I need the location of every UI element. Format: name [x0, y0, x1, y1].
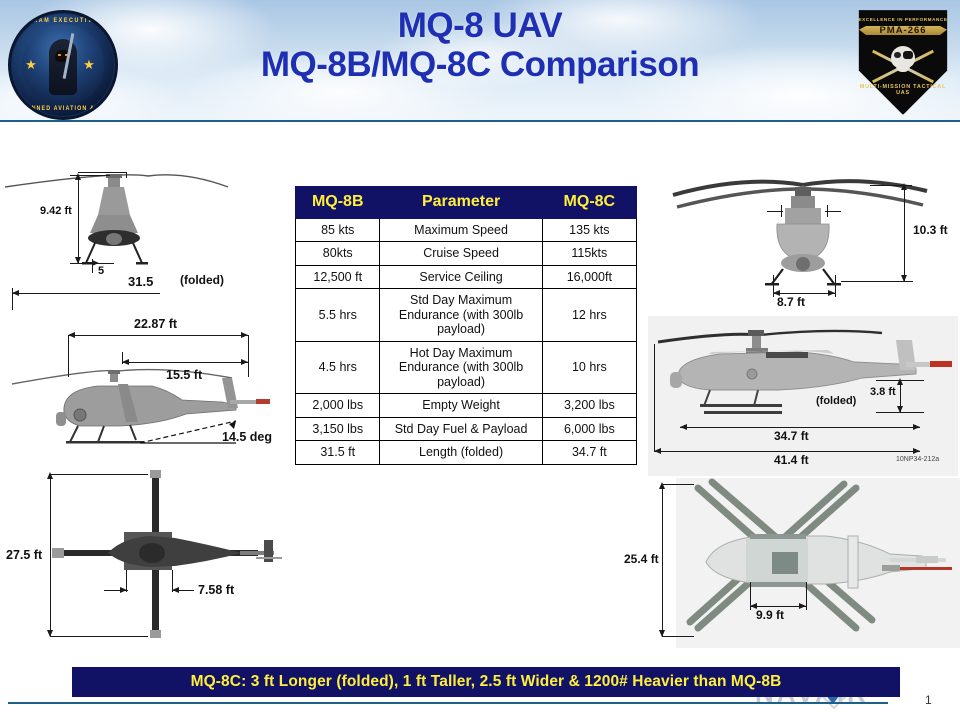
mq8b-width-arrow-left: [172, 587, 179, 593]
mq8c-top-view-illustration: [676, 478, 960, 648]
table-row: 5.5 hrs Std Day Maximum Endurance (with …: [296, 289, 637, 342]
cell-parameter: Service Ceiling: [380, 265, 542, 289]
mq8b-folded-tick-left: [12, 288, 13, 310]
mq8c-height-tick-bottom: [841, 281, 913, 282]
mq8b-folded-note-label: (folded): [180, 273, 224, 287]
mq8b-folded-dim-line: [12, 293, 160, 294]
cell-parameter: Maximum Speed: [380, 218, 542, 242]
cell-mq8b: 80kts: [296, 242, 380, 266]
cell-mq8c: 115kts: [542, 242, 636, 266]
mq8b-folded-arrow-left: [12, 290, 19, 296]
page-title: MQ-8 UAV MQ-8B/MQ-8C Comparison: [130, 6, 830, 84]
cell-parameter: Cruise Speed: [380, 242, 542, 266]
cell-parameter: Length (folded): [380, 441, 542, 465]
mq8c-tail-tick-bottom: [876, 412, 924, 413]
mq8c-folded-note-label: (folded): [816, 395, 856, 407]
shield-designator-label: PMA-266: [855, 26, 951, 35]
mq8b-height-tick-top: [70, 175, 110, 176]
mq8b-folded-length-label: 31.5: [128, 274, 153, 289]
mq8c-height-tick-top: [870, 185, 912, 186]
table-header-mq8b: MQ-8B: [296, 187, 380, 219]
table-row: 4.5 hrs Hot Day Maximum Endurance (with …: [296, 341, 637, 394]
mq8c-overall-length-label: 41.4 ft: [774, 453, 809, 467]
table-header-mq8c: MQ-8C: [542, 187, 636, 219]
header-divider-rule: [0, 120, 960, 122]
mq8b-front-view-illustration: [0, 163, 290, 278]
mq8c-overall-length-line: [654, 451, 920, 452]
cell-mq8b: 3,150 lbs: [296, 417, 380, 441]
mq8b-mq8c-comparison-table: MQ-8B Parameter MQ-8C 85 kts Maximum Spe…: [295, 186, 637, 465]
footer-divider-rule: [8, 702, 888, 704]
cell-mq8b: 31.5 ft: [296, 441, 380, 465]
mq8c-width-tick-right: [806, 582, 807, 610]
slide-header-band: MQ-8 UAV MQ-8B/MQ-8C Comparison PROGRAM …: [0, 0, 960, 122]
mq8c-body-line-left: [767, 211, 783, 212]
shield-arc-top-text: EXCELLENCE IN PERFORMANCE: [855, 17, 951, 22]
mq8b-height-dim-line: [78, 175, 79, 263]
table-row: 85 kts Maximum Speed 135 kts: [296, 218, 637, 242]
mq8c-skid-width-label: 8.7 ft: [777, 295, 805, 309]
mq8c-skid-tick-right: [835, 275, 836, 297]
mq8c-tail-height-label: 3.8 ft: [870, 386, 896, 398]
mq8c-overall-arrow-left: [654, 448, 661, 454]
mq8b-front-height-label: 9.42 ft: [40, 205, 72, 217]
mq8c-height-dim-line: [904, 185, 905, 281]
mq8b-top-width-line: [78, 172, 126, 173]
cell-mq8b: 85 kts: [296, 218, 380, 242]
cell-mq8b: 12,500 ft: [296, 265, 380, 289]
cell-parameter: Hot Day Maximum Endurance (with 300lb pa…: [380, 341, 542, 394]
cell-mq8c: 6,000 lbs: [542, 417, 636, 441]
mq8c-width-arrow-right: [799, 603, 806, 609]
cell-parameter: Std Day Fuel & Payload: [380, 417, 542, 441]
cell-mq8c: 10 hrs: [542, 341, 636, 394]
mq8c-folded-arrow-right: [913, 424, 920, 430]
mq8c-side-view-illustration: [648, 316, 958, 476]
mq8c-height-label: 10.3 ft: [913, 223, 948, 237]
mq8b-body-width-label: 7.58 ft: [198, 583, 234, 597]
mq8c-folded-length-line: [680, 427, 920, 428]
mq8c-overall-tick-left: [654, 344, 655, 452]
mq8b-rotor-diameter-label: 27.5 ft: [6, 548, 42, 562]
cell-mq8b: 5.5 hrs: [296, 289, 380, 342]
summary-banner-text: MQ-8C: 3 ft Longer (folded), 1 ft Taller…: [191, 673, 782, 691]
table-body: 85 kts Maximum Speed 135 kts 80kts Cruis…: [296, 218, 637, 464]
mq8b-rotor-tick-top: [50, 474, 148, 475]
shield-arc-bottom-text: MULTI-MISSION TACTICAL UAS: [855, 84, 951, 96]
seal-ring-bottom-text: UNMANNED AVIATION & STRIKE WEAPONS: [11, 106, 115, 113]
mq8c-top-view-diagram: 25.4 ft 9.9 ft: [676, 478, 960, 648]
mq8c-reference-label: 10NP34-212a: [896, 456, 939, 463]
pma-266-shield-icon: EXCELLENCE IN PERFORMANCE PMA-266 MULTI-…: [855, 8, 951, 116]
mq8c-width-dim-line: [750, 606, 806, 607]
mq8c-folded-arrow-left: [680, 424, 687, 430]
mq8c-body-line-right: [825, 211, 841, 212]
mq8c-rotor-dia-line: [662, 484, 663, 636]
mq8b-rotor-tick-bottom: [50, 636, 148, 637]
cell-parameter: Std Day Maximum Endurance (with 300lb pa…: [380, 289, 542, 342]
mq8c-side-view-diagram: (folded) 3.8 ft 34.7 ft 41.4 ft 10NP34-2…: [648, 316, 958, 476]
table-row: 12,500 ft Service Ceiling 16,000ft: [296, 265, 637, 289]
mq8b-tail-angle-label: 14.5 deg: [222, 430, 272, 444]
mq8c-skid-dim-line: [773, 293, 835, 294]
mq8c-rotor-diameter-label: 25.4 ft: [624, 552, 659, 566]
mq8c-folded-length-label: 34.7 ft: [774, 429, 809, 443]
mq8b-top-view-diagram: 27.5 ft 7.58 ft: [0, 466, 290, 646]
mq8b-top-width-tick: [126, 172, 127, 178]
shield-skull-eye-socket: [894, 52, 901, 58]
table-row: 3,150 lbs Std Day Fuel & Payload 6,000 l…: [296, 417, 637, 441]
cell-mq8c: 34.7 ft: [542, 441, 636, 465]
mq8b-rotor-dia-line: [50, 474, 51, 636]
table-row: 80kts Cruise Speed 115kts: [296, 242, 637, 266]
mq8c-rotor-tick-top: [662, 484, 694, 485]
mq8b-width-arrow-right: [120, 587, 127, 593]
title-line-2: MQ-8B/MQ-8C Comparison: [130, 45, 830, 84]
table-row: 31.5 ft Length (folded) 34.7 ft: [296, 441, 637, 465]
cell-mq8c: 135 kts: [542, 218, 636, 242]
cell-parameter: Empty Weight: [380, 394, 542, 418]
cell-mq8b: 2,000 lbs: [296, 394, 380, 418]
mq8b-skid-tick: [92, 259, 93, 273]
mq8b-front-view-diagram: 9.42 ft 5: [0, 163, 290, 278]
seal-ring-text: PROGRAM EXECUTIVE OFFICE UNMANNED AVIATI…: [11, 13, 115, 117]
mq8c-tail-tick-top: [876, 380, 924, 381]
table-header-parameter: Parameter: [380, 187, 542, 219]
mq8b-skid-dim-label: 5: [98, 265, 104, 277]
mq8b-side-view-diagram: 22.87 ft 15.5 ft 14.5 deg: [0, 312, 290, 462]
cell-mq8c: 3,200 lbs: [542, 394, 636, 418]
cell-mq8b: 4.5 hrs: [296, 341, 380, 394]
seal-ring-top-text: PROGRAM EXECUTIVE OFFICE: [11, 18, 115, 25]
mq8b-top-view-illustration: [0, 466, 290, 646]
shield-skull-eyepatch-icon: [903, 51, 913, 59]
summary-banner: MQ-8C: 3 ft Longer (folded), 1 ft Taller…: [72, 667, 900, 697]
mq8c-overall-arrow-right: [913, 448, 920, 454]
page-number-label: 1: [925, 693, 932, 707]
mq8c-skid-arrow-right: [828, 290, 835, 296]
cell-mq8c: 12 hrs: [542, 289, 636, 342]
cell-mq8c: 16,000ft: [542, 265, 636, 289]
mq8c-rotor-tick-bottom: [662, 636, 694, 637]
table-row: 2,000 lbs Empty Weight 3,200 lbs: [296, 394, 637, 418]
mq8c-body-width-label: 9.9 ft: [756, 608, 784, 622]
peo-unmanned-aviation-seal-icon: PROGRAM EXECUTIVE OFFICE UNMANNED AVIATI…: [8, 10, 118, 120]
table-header-row: MQ-8B Parameter MQ-8C: [296, 187, 637, 219]
title-line-1: MQ-8 UAV: [130, 6, 830, 45]
mq8c-front-view-diagram: 10.3 ft 8.7 ft: [655, 163, 955, 308]
